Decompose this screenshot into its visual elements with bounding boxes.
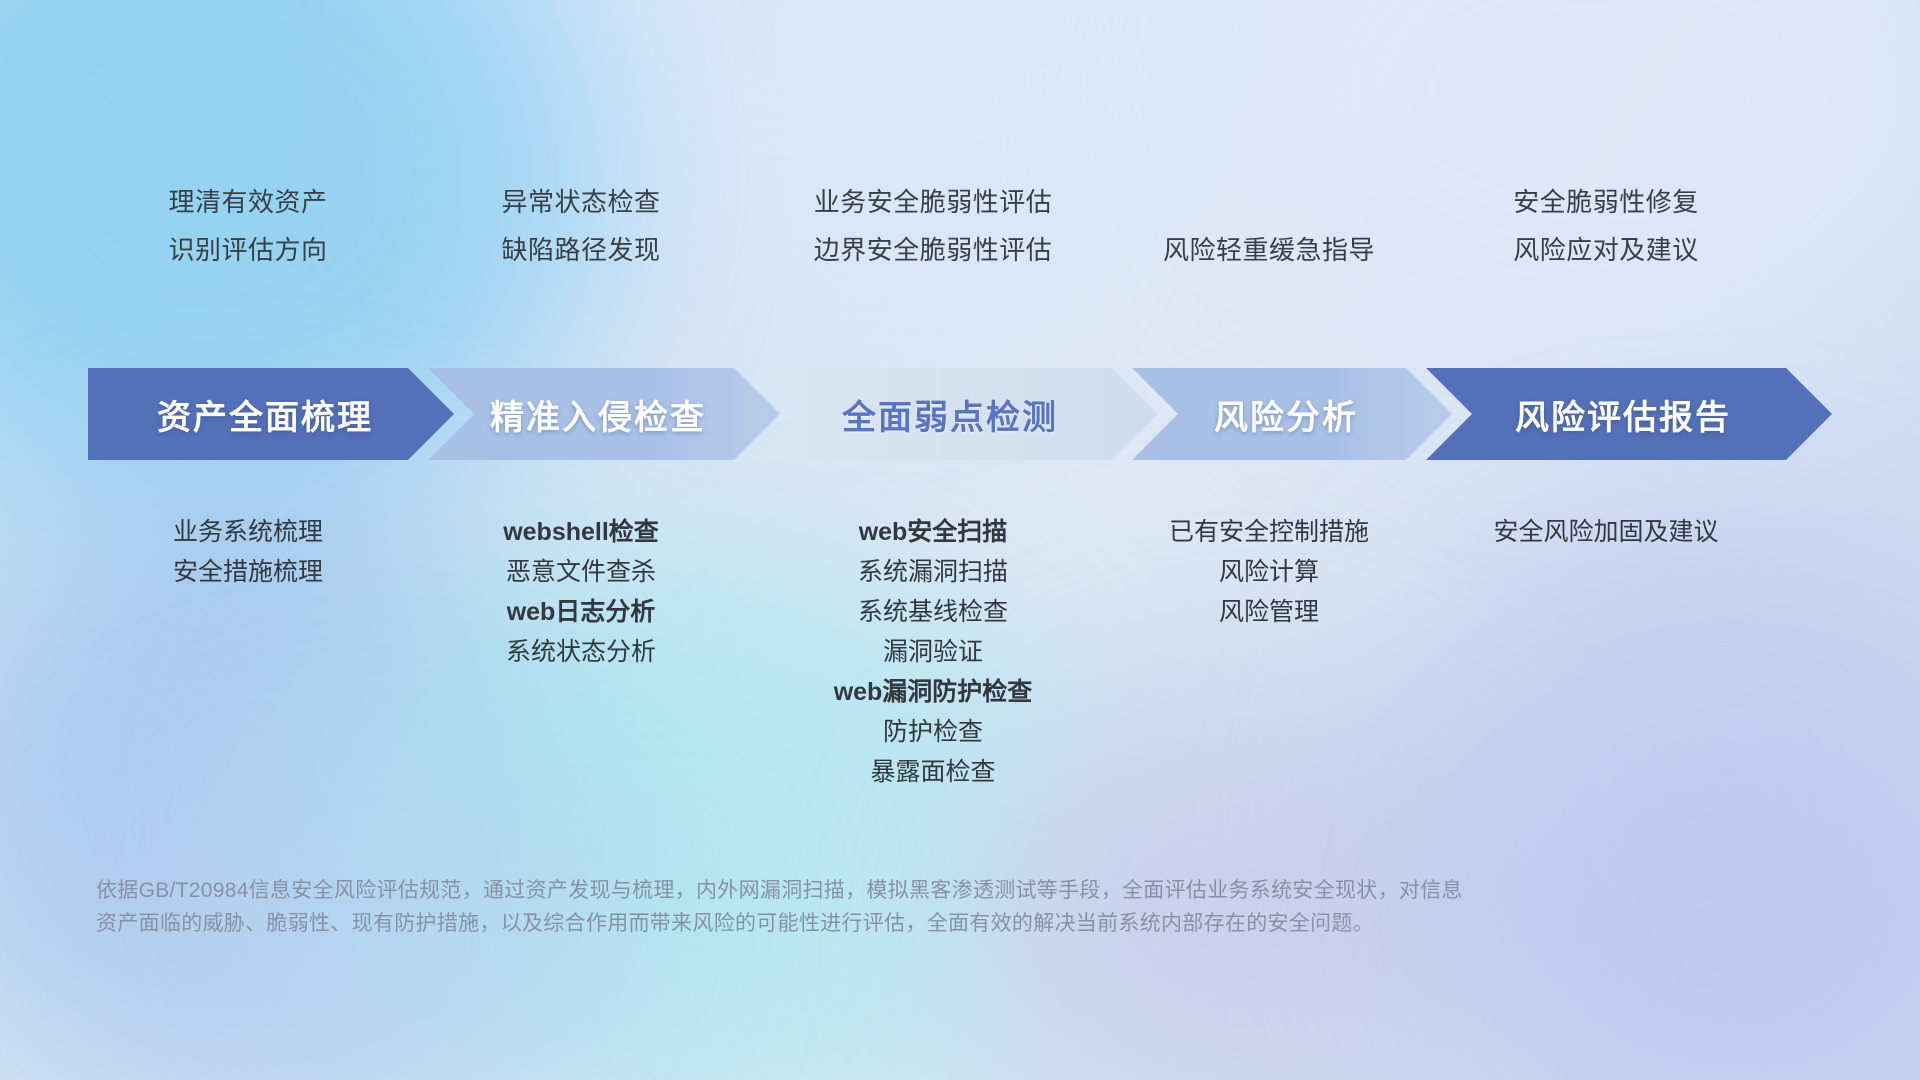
bottom-label-item: 风险计算 <box>1009 552 1529 592</box>
bottom-label-item: 漏洞验证 <box>673 632 1193 672</box>
process-stage-label: 风险评估报告 <box>1515 390 1731 439</box>
bottom-label-item: 暴露面检查 <box>673 752 1193 792</box>
process-chevron-band: 资产全面梳理精准入侵检查全面弱点检测风险分析风险评估报告 <box>88 368 1832 460</box>
bottom-label-item: 防护检查 <box>673 712 1193 752</box>
process-stage-label: 全面弱点检测 <box>842 390 1058 439</box>
top-label-column-5: 安全脆弱性修复风险应对及建议 <box>1346 178 1866 274</box>
process-stage-label: 精准入侵检查 <box>490 390 706 439</box>
top-label-item: 业务安全脆弱性评估 <box>673 178 1193 226</box>
process-stage-3: 全面弱点检测 <box>754 368 1158 460</box>
footer-line-2: 资产面临的威胁、脆弱性、现有防护措施，以及综合作用而带来风险的可能性进行评估，全… <box>96 907 1596 940</box>
bottom-label-item: 安全风险加固及建议 <box>1346 512 1866 552</box>
process-stage-2: 精准入侵检查 <box>428 368 780 460</box>
process-stage-label: 资产全面梳理 <box>157 390 373 439</box>
process-stage-5: 风险评估报告 <box>1426 368 1832 460</box>
process-stage-4: 风险分析 <box>1132 368 1452 460</box>
footer-description: 依据GB/T20984信息安全风险评估规范，通过资产发现与梳理，内外网漏洞扫描，… <box>96 874 1596 940</box>
bottom-label-item: 风险管理 <box>1009 592 1529 632</box>
top-label-item: 风险应对及建议 <box>1346 226 1866 274</box>
top-labels-row: 理清有效资产识别评估方向异常状态检查缺陷路径发现业务安全脆弱性评估边界安全脆弱性… <box>0 178 1920 274</box>
process-stage-label: 风险分析 <box>1214 390 1358 439</box>
bottom-label-column-5: 安全风险加固及建议 <box>1346 512 1866 552</box>
process-stage-1: 资产全面梳理 <box>88 368 454 460</box>
footer-line-1: 依据GB/T20984信息安全风险评估规范，通过资产发现与梳理，内外网漏洞扫描，… <box>96 874 1596 907</box>
top-label-item: 安全脆弱性修复 <box>1346 178 1866 226</box>
bottom-label-item: web漏洞防护检查 <box>673 672 1193 712</box>
